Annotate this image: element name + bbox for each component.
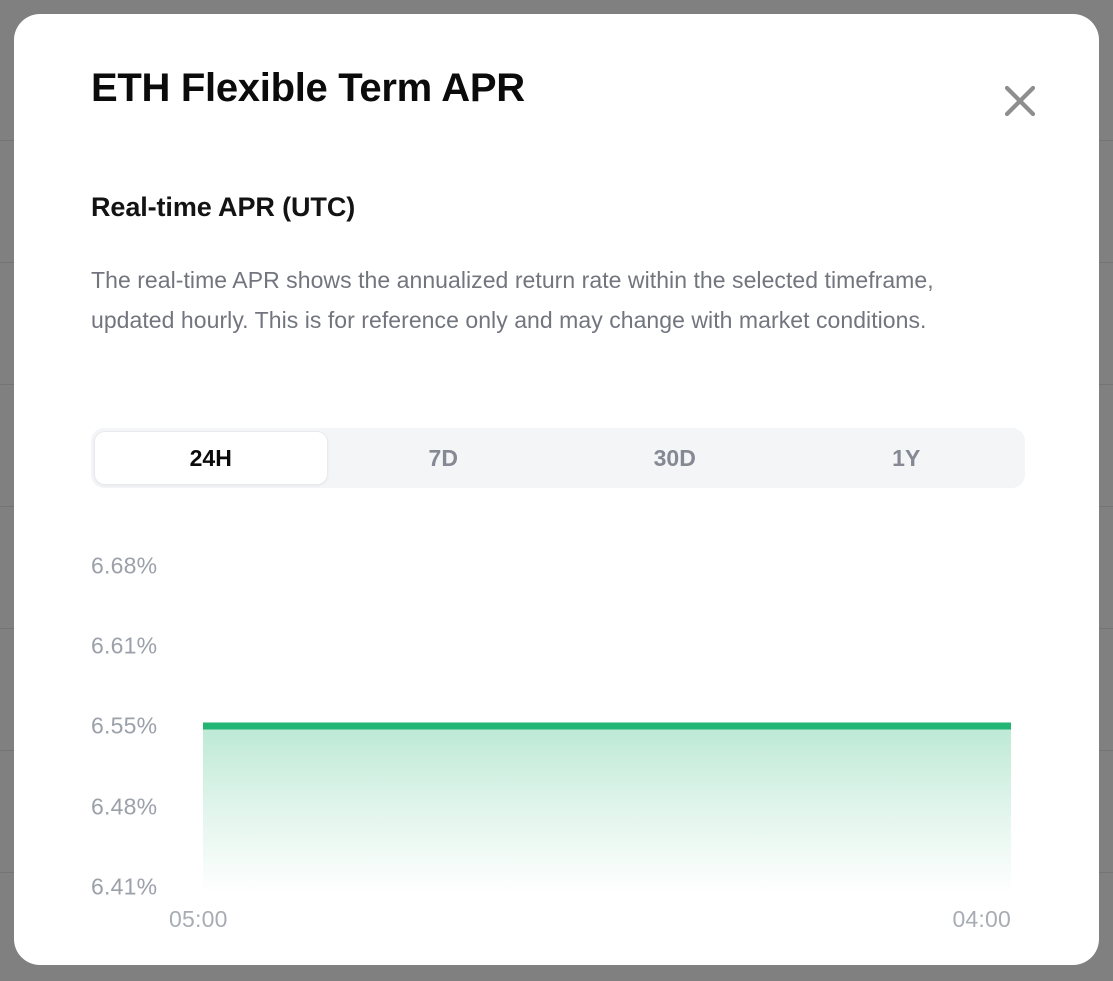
tab-1y[interactable]: 1Y [791,431,1023,485]
y-axis-tick: 6.61% [91,633,183,660]
close-button[interactable] [993,74,1047,128]
page-title: ETH Flexible Term APR [91,66,525,111]
chart-area-fill [203,726,1011,894]
y-axis-tick: 6.68% [91,553,183,580]
tab-24h[interactable]: 24H [94,431,328,485]
tab-label: 30D [654,445,696,472]
x-axis-tick-start: 05:00 [169,906,228,933]
apr-area-chart[interactable]: 6.68% 6.61% 6.55% 6.48% 6.41% 05:00 04:0… [91,530,1025,940]
modal-header: ETH Flexible Term APR [14,14,1099,164]
section-heading: Real-time APR (UTC) [91,192,355,223]
timeframe-tab-bar: 24H 7D 30D 1Y [91,428,1025,488]
close-icon [999,80,1041,122]
tab-7d[interactable]: 7D [328,431,560,485]
x-axis-tick-end: 04:00 [952,906,1011,933]
section-description: The real-time APR shows the annualized r… [91,260,1001,340]
y-axis-tick: 6.48% [91,794,183,821]
tab-label: 7D [429,445,458,472]
chart-svg [203,530,1011,894]
apr-detail-modal: ETH Flexible Term APR Real-time APR (UTC… [14,14,1099,965]
y-axis-tick: 6.55% [91,713,183,740]
tab-label: 1Y [892,445,920,472]
tab-30d[interactable]: 30D [559,431,791,485]
tab-label: 24H [190,445,232,472]
chart-plot-area[interactable] [203,530,1011,894]
y-axis-tick: 6.41% [91,874,183,901]
